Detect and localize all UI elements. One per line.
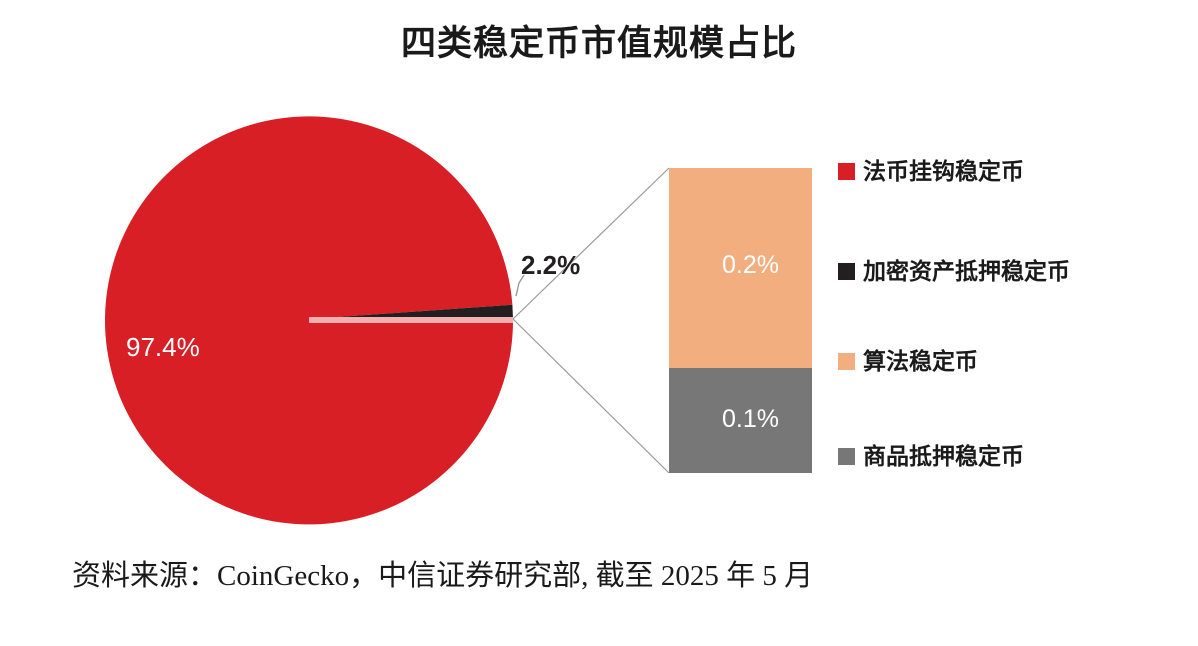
legend-item-label: 商品抵押稳定币 xyxy=(863,443,1024,469)
bar-of-pie-connectors xyxy=(513,168,669,473)
chart-legend: 法币挂钩稳定币 加密资产抵押稳定币 算法稳定币 商品抵押稳定币 xyxy=(838,158,1178,488)
legend-swatch-icon xyxy=(838,448,855,465)
legend-item-label: 加密资产抵押稳定币 xyxy=(863,258,1070,284)
data-label-algorithmic: 0.2% xyxy=(722,251,779,280)
data-label-crypto-collateral: 2.2% xyxy=(521,250,580,281)
data-label-commodity-collateral: 0.1% xyxy=(722,405,779,434)
source-note: 资料来源：CoinGecko，中信证券研究部, 截至 2025 年 5 月 xyxy=(72,552,813,594)
legend-item-label: 法币挂钩稳定币 xyxy=(863,158,1024,184)
legend-item-crypto-collateral[interactable]: 加密资产抵押稳定币 xyxy=(838,258,1070,284)
legend-item-label: 算法稳定币 xyxy=(863,348,978,374)
legend-swatch-icon xyxy=(838,163,855,180)
legend-item-algorithmic[interactable]: 算法稳定币 xyxy=(838,348,978,374)
legend-swatch-icon xyxy=(838,263,855,280)
chart-figure: 四类稳定币市值规模占比 97.4% 2.2% 0.2% 0.1% 法币挂钩稳定币… xyxy=(0,0,1198,646)
legend-item-commodity-collateral[interactable]: 商品抵押稳定币 xyxy=(838,443,1024,469)
legend-swatch-icon xyxy=(838,353,855,370)
legend-item-fiat-pegged[interactable]: 法币挂钩稳定币 xyxy=(838,158,1024,184)
pie-slice-separator xyxy=(309,317,513,323)
data-label-fiat-pegged: 97.4% xyxy=(126,332,200,363)
